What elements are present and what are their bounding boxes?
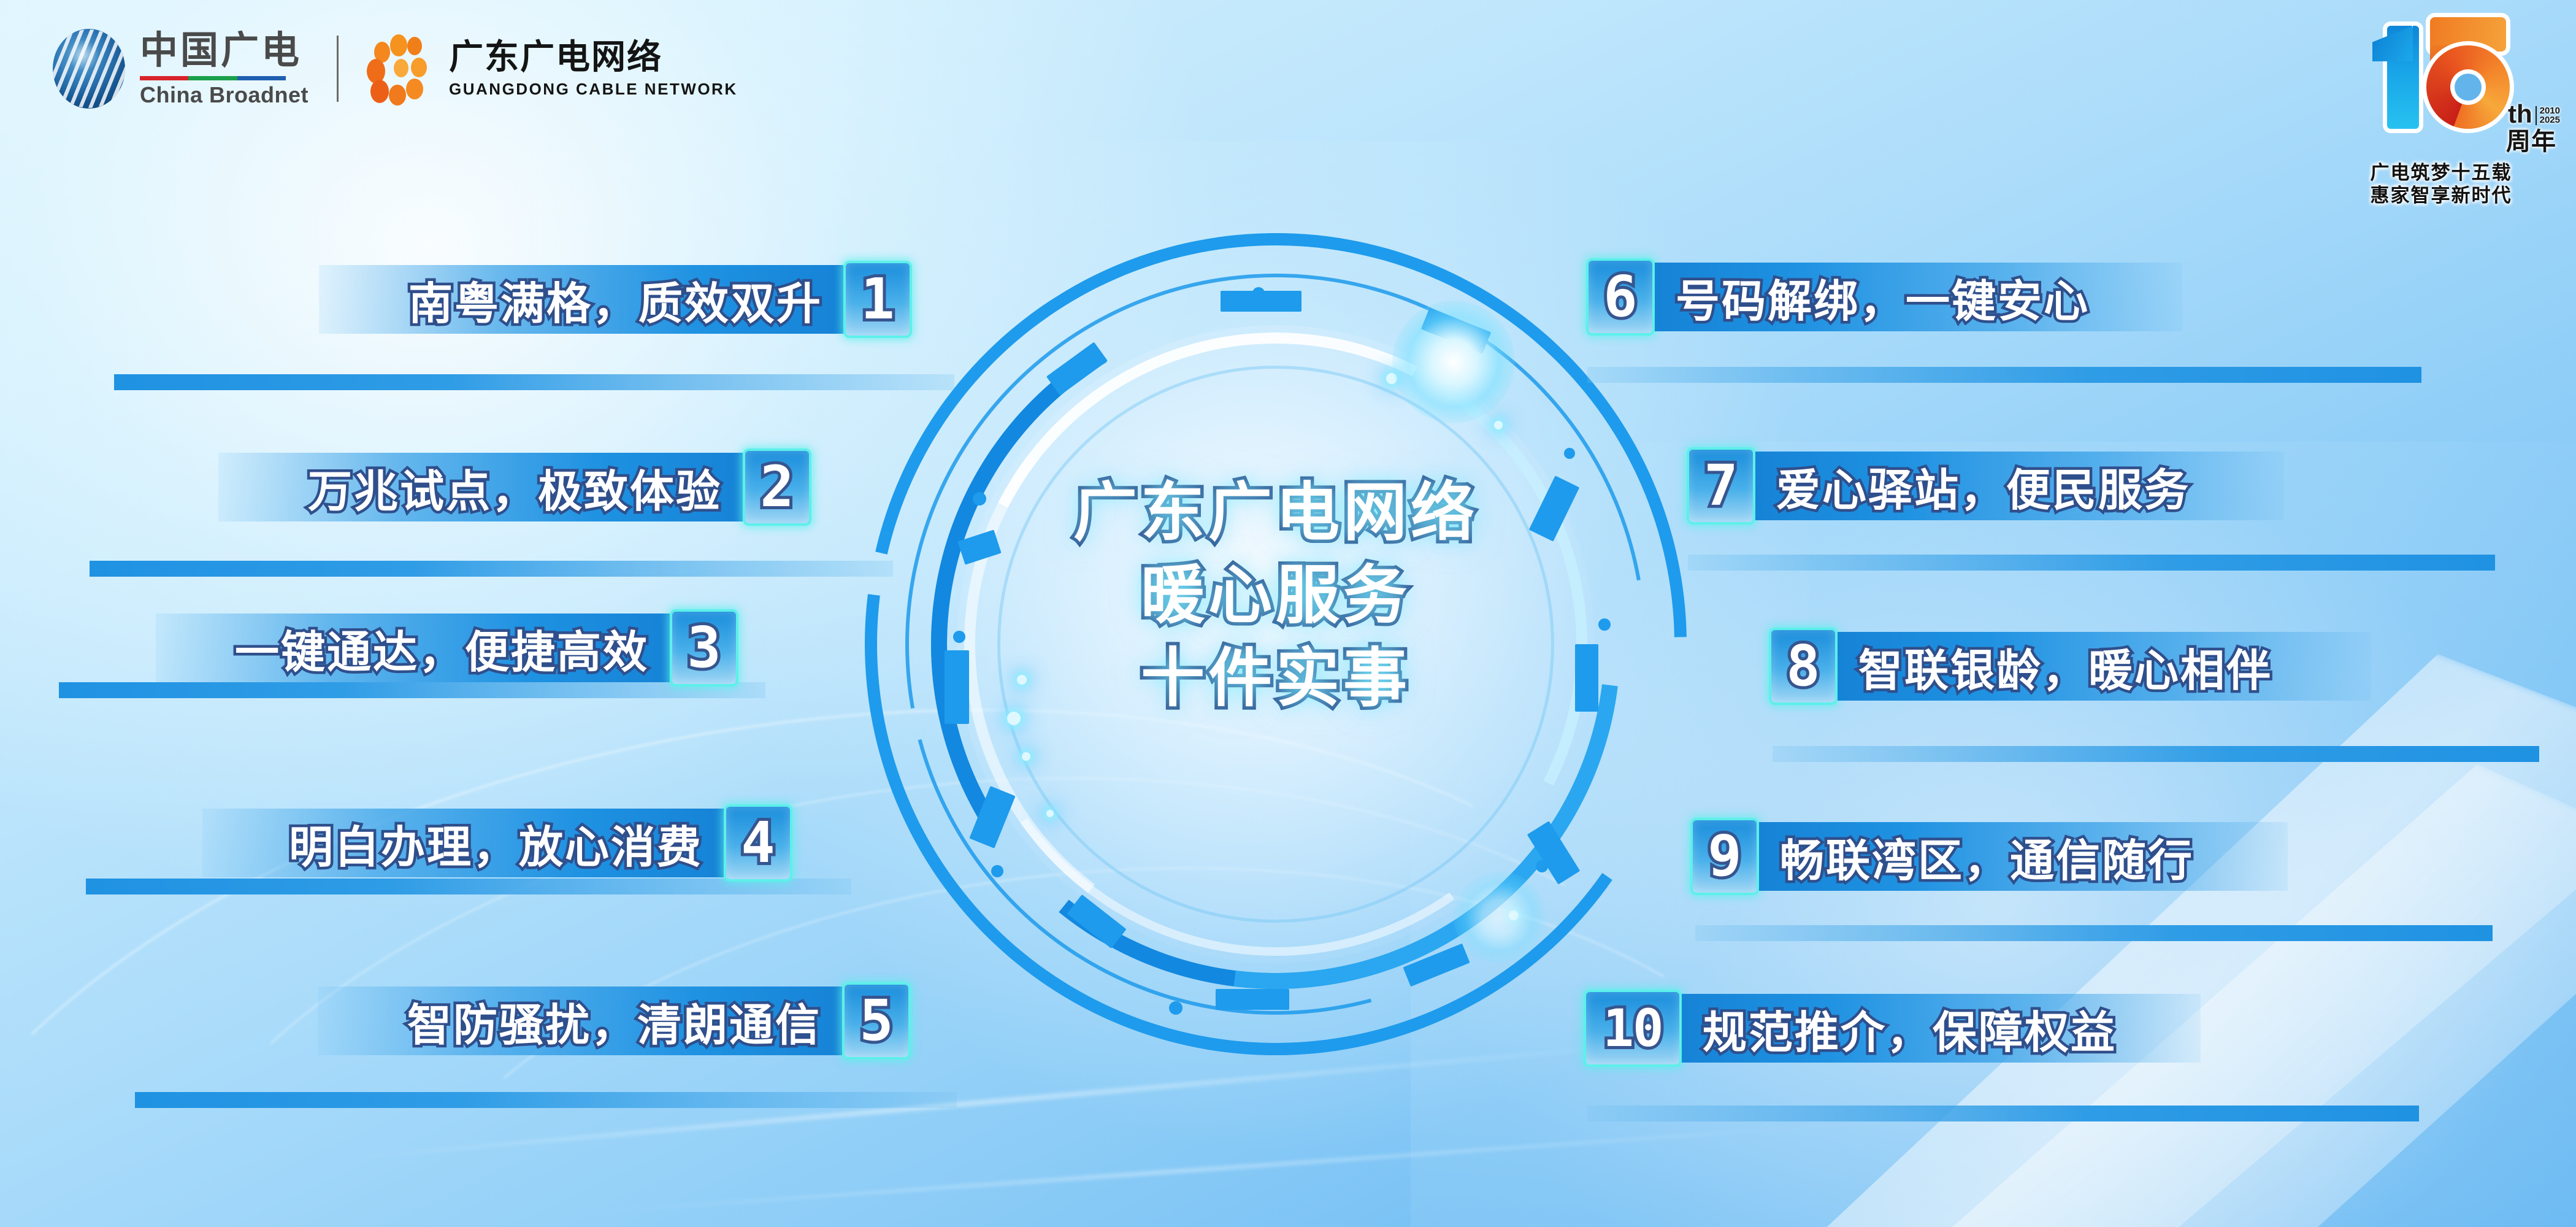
ring-node-8 <box>1252 287 1265 299</box>
anniversary-zhounian: 周年 <box>2506 121 2556 157</box>
ring-node-4 <box>1169 1001 1183 1015</box>
ring-node-7 <box>1564 448 1575 459</box>
guangdong-cable-name-en: GUANGDONG CABLE NETWORK <box>449 81 738 97</box>
item-badge-3: 3 <box>670 609 738 687</box>
item-badge-9: 9 <box>1690 818 1759 895</box>
item-badge-6: 6 <box>1586 258 1655 336</box>
list-item-8[interactable]: 8 智联银龄，暖心相伴 <box>1769 632 2371 701</box>
anniversary-slogan-line-1: 广电筑梦十五载 <box>2371 162 2512 185</box>
infographic-canvas: 中国广电 China Broadnet 广东广电网络 GUANGDONG CAB… <box>0 0 2576 1227</box>
item-number-9: 9 <box>1708 828 1741 885</box>
ring-node-3 <box>991 865 1003 877</box>
item-number-10: 10 <box>1603 1002 1662 1054</box>
item-label-6: 号码解绑，一键安心 <box>1676 265 2090 329</box>
guangdong-cable-wordmark: 广东广电网络 GUANGDONG CABLE NETWORK <box>449 40 738 97</box>
ring-glow-dot-3 <box>1022 752 1030 761</box>
china-broadnet-wordmark: 中国广电 China Broadnet <box>140 31 309 106</box>
item-number-8: 8 <box>1786 638 1820 694</box>
item-underbar-9 <box>1695 925 2493 941</box>
item-bar-8: 智联银龄，暖心相伴 <box>1838 632 2371 701</box>
item-label-7: 爱心驿站，便民服务 <box>1776 454 2190 518</box>
list-item-9[interactable]: 9 畅联湾区，通信随行 <box>1690 822 2288 891</box>
item-number-3: 3 <box>687 620 721 676</box>
anniversary-number-15: th 2010 2025 周年 <box>2372 11 2510 129</box>
anniversary-digit-5 <box>2426 17 2510 129</box>
header-logos: 中国广电 China Broadnet 广东广电网络 GUANGDONG CAB… <box>53 32 738 106</box>
list-item-1[interactable]: 南粤满格，质效双升 1 <box>319 265 912 334</box>
anniversary-badge: th 2010 2025 周年 广电筑梦十五载 惠家智享新时代 <box>2349 11 2533 213</box>
ring-node-5 <box>1536 860 1548 872</box>
list-item-6[interactable]: 6 号码解绑，一键安心 <box>1586 263 2182 331</box>
anniversary-digit-1 <box>2372 26 2419 129</box>
ring-glow-highlight-2 <box>1454 871 1546 963</box>
item-number-6: 6 <box>1603 269 1637 325</box>
guangdong-cable-name-cn: 广东广电网络 <box>449 40 738 75</box>
item-underbar-3 <box>59 682 765 698</box>
china-broadnet-name-en: China Broadnet <box>140 84 309 106</box>
item-bar-7: 爱心驿站，便民服务 <box>1755 452 2284 520</box>
item-label-3: 一键通达，便捷高效 <box>235 616 649 680</box>
item-bar-9: 畅联湾区，通信随行 <box>1759 822 2288 891</box>
item-badge-4: 4 <box>724 804 792 882</box>
guangdong-cable-logo-icon <box>367 34 435 103</box>
center-title-line-2: 暖心服务 <box>853 554 1699 637</box>
item-number-4: 4 <box>741 815 775 871</box>
item-label-4: 明白办理，放心消费 <box>289 811 703 875</box>
item-label-10: 规范推介，保障权益 <box>1703 996 2117 1061</box>
list-item-5[interactable]: 智防骚扰，清朗通信 5 <box>318 987 911 1055</box>
ring-tick-5 <box>1216 989 1289 1010</box>
item-badge-8: 8 <box>1769 628 1838 705</box>
item-badge-1: 1 <box>843 261 912 338</box>
item-bar-5: 智防骚扰，清朗通信 <box>318 987 842 1055</box>
anniversary-slogan-line-2: 惠家智享新时代 <box>2371 185 2512 207</box>
item-underbar-8 <box>1773 746 2539 762</box>
list-item-7[interactable]: 7 爱心驿站，便民服务 <box>1687 452 2284 520</box>
item-bar-4: 明白办理，放心消费 <box>202 809 724 877</box>
list-item-2[interactable]: 万兆试点，极致体验 2 <box>218 453 811 521</box>
list-item-3[interactable]: 一键通达，便捷高效 3 <box>156 613 738 682</box>
item-badge-5: 5 <box>842 982 911 1060</box>
list-item-4[interactable]: 明白办理，放心消费 4 <box>202 809 792 877</box>
item-number-7: 7 <box>1704 458 1738 514</box>
item-bar-6: 号码解绑，一键安心 <box>1655 263 2182 331</box>
item-bar-3: 一键通达，便捷高效 <box>156 613 670 682</box>
item-number-1: 1 <box>861 271 894 328</box>
china-broadnet-tricolor-rule <box>140 76 286 80</box>
anniversary-slogan: 广电筑梦十五载 惠家智享新时代 <box>2371 162 2512 207</box>
ring-glow-dot-6 <box>1494 421 1503 429</box>
ring-glow-dot-4 <box>1046 810 1054 817</box>
item-underbar-7 <box>1688 555 2495 571</box>
item-label-9: 畅联湾区，通信随行 <box>1780 825 2194 889</box>
item-bar-10: 规范推介，保障权益 <box>1682 994 2201 1063</box>
center-title-line-3: 十件实事 <box>853 637 1699 720</box>
anniversary-year-start: 2010 <box>2540 106 2560 116</box>
list-item-10[interactable]: 10 规范推介，保障权益 <box>1584 994 2201 1063</box>
item-label-8: 智联银龄，暖心相伴 <box>1858 634 2272 699</box>
item-underbar-6 <box>1587 367 2421 383</box>
item-underbar-5 <box>135 1092 957 1108</box>
item-badge-2: 2 <box>743 448 811 526</box>
item-label-1: 南粤满格，质效双升 <box>408 267 822 332</box>
item-underbar-10 <box>1587 1106 2419 1121</box>
china-broadnet-name-cn: 中国广电 <box>140 31 309 69</box>
center-title-line-1: 广东广电网络 <box>853 471 1699 554</box>
item-underbar-2 <box>90 561 893 577</box>
china-broadnet-logo-icon <box>53 29 125 109</box>
item-number-2: 2 <box>760 459 794 515</box>
item-label-2: 万兆试点，极致体验 <box>308 455 722 520</box>
item-label-5: 智防骚扰，清朗通信 <box>407 989 821 1053</box>
item-badge-10: 10 <box>1584 990 1682 1067</box>
item-number-5: 5 <box>859 993 893 1049</box>
center-title: 广东广电网络 暖心服务 十件实事 <box>853 471 1699 720</box>
item-underbar-1 <box>114 374 954 390</box>
item-bar-2: 万兆试点，极致体验 <box>218 453 743 521</box>
item-bar-1: 南粤满格，质效双升 <box>319 265 843 334</box>
center-tech-ring: 广东广电网络 暖心服务 十件实事 <box>853 221 1699 1067</box>
item-badge-7: 7 <box>1687 447 1755 525</box>
logo-divider <box>337 36 339 102</box>
ring-glow-highlight <box>1392 301 1515 423</box>
